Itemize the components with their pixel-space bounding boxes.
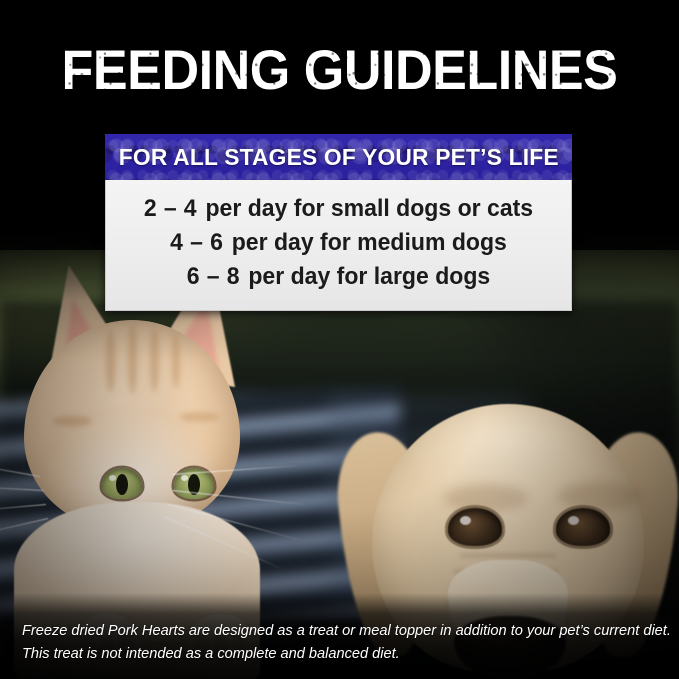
dog-muzzle-wrinkle: [460, 554, 556, 557]
kitten-pupil-left: [116, 474, 128, 495]
dog-brow-left: [444, 484, 528, 512]
kitten-eye-left: [102, 468, 142, 499]
feeding-amount: 6 – 8: [187, 263, 240, 290]
feeding-amounts-panel: 2 – 4per day for small dogs or cats 4 – …: [105, 180, 572, 311]
feeding-description: per day for medium dogs: [232, 229, 507, 256]
disclaimer-footer: Freeze dried Pork Hearts are designed as…: [0, 593, 679, 679]
kitten-forehead-stripe: [128, 324, 137, 394]
dog-eye-left: [448, 508, 502, 546]
feeding-amount: 2 – 4: [144, 195, 197, 222]
kitten-cheek-stripe: [180, 412, 220, 422]
dog-brow-right: [558, 482, 642, 510]
feeding-row: 2 – 4per day for small dogs or cats: [120, 192, 557, 226]
feeding-guidelines-callout: FOR ALL STAGES OF YOUR PET’S LIFE 2 – 4p…: [105, 134, 572, 311]
feeding-description: per day for large dogs: [248, 263, 490, 290]
dog-eye-glint-left: [460, 516, 471, 525]
kitten-eye-glint-left: [109, 475, 116, 481]
kitten-eye-glint-right: [181, 475, 188, 481]
kitten-forehead-stripe: [150, 328, 159, 392]
kitten-cheek-stripe: [52, 416, 92, 426]
callout-banner-label: FOR ALL STAGES OF YOUR PET’S LIFE: [119, 144, 559, 171]
feeding-row: 6 – 8per day for large dogs: [120, 260, 557, 294]
feeding-row: 4 – 6per day for medium dogs: [120, 226, 557, 260]
disclaimer-line: Freeze dried Pork Hearts are designed as…: [22, 619, 653, 642]
page-title: FEEDING GUIDELINES: [24, 40, 655, 100]
kitten-forehead-stripe: [172, 334, 180, 388]
feeding-description: per day for small dogs or cats: [205, 195, 533, 222]
kitten-forehead-stripe: [106, 330, 115, 392]
dog-eye-glint-right: [568, 516, 579, 525]
callout-banner: FOR ALL STAGES OF YOUR PET’S LIFE: [105, 134, 572, 180]
kitten-whisker: [0, 504, 46, 515]
feeding-guidelines-poster: FEEDING GUIDELINES FOR ALL STAGES OF YOU…: [0, 0, 679, 679]
feeding-amount: 4 – 6: [170, 229, 223, 256]
disclaimer-line: This treat is not intended as a complete…: [22, 642, 653, 665]
dog-eye-right: [556, 508, 610, 546]
